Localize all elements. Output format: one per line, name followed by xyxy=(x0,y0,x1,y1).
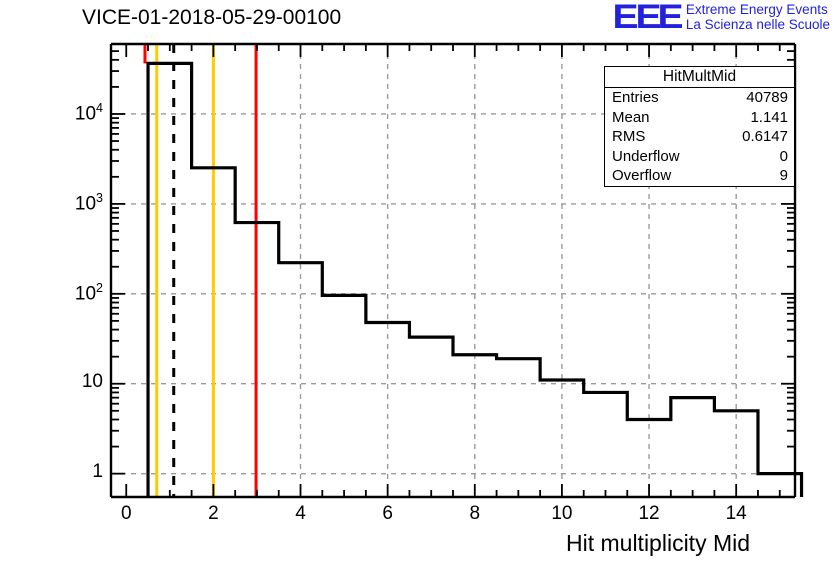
stats-row: Entries40789 xyxy=(605,88,794,108)
logo-line-2: La Scienza nelle Scuole xyxy=(686,17,830,32)
y-tick-label: 102 xyxy=(25,281,103,305)
y-tick-mantissa: 10 xyxy=(82,371,103,392)
stats-row: Underflow0 xyxy=(605,147,794,167)
stats-label: Mean xyxy=(612,108,650,128)
y-tick-mantissa: 10 xyxy=(75,103,96,124)
y-tick-exponent: 4 xyxy=(96,101,103,115)
page-title: VICE-01-2018-05-29-00100 xyxy=(82,6,341,30)
stats-value: 1.141 xyxy=(750,108,788,128)
y-tick-label: 104 xyxy=(25,101,103,125)
stats-label: Underflow xyxy=(612,147,680,167)
x-tick-label: 12 xyxy=(629,503,669,525)
stats-value: 9 xyxy=(780,166,788,186)
x-tick-label: 8 xyxy=(455,503,495,525)
stats-rows: Entries40789Mean1.141RMS0.6147Underflow0… xyxy=(605,88,794,186)
logo-caption: Extreme Energy Events La Scienza nelle S… xyxy=(686,2,830,32)
eee-letters-icon: E E E xyxy=(614,3,680,31)
y-tick-exponent: 2 xyxy=(96,281,103,295)
stats-value: 0.6147 xyxy=(742,127,788,147)
x-tick-label: 14 xyxy=(716,503,756,525)
x-axis-title: Hit multiplicity Mid xyxy=(566,530,750,557)
x-tick-label: 4 xyxy=(281,503,321,525)
eee-letter-1: E xyxy=(612,3,636,31)
stats-label: Entries xyxy=(612,88,659,108)
stats-row: RMS0.6147 xyxy=(605,127,794,147)
x-tick-label: 6 xyxy=(368,503,408,525)
y-tick-label: 10 xyxy=(25,371,103,393)
x-tick-label: 0 xyxy=(106,503,146,525)
logo-line-1: Extreme Energy Events xyxy=(686,2,830,17)
x-tick-label: 2 xyxy=(193,503,233,525)
eee-letter-2: E xyxy=(635,3,659,31)
y-tick-exponent: 3 xyxy=(96,191,103,205)
y-tick-label: 103 xyxy=(25,191,103,215)
stats-value: 0 xyxy=(780,147,788,167)
stats-label: Overflow xyxy=(612,166,671,186)
stats-value: 40789 xyxy=(746,88,788,108)
y-tick-mantissa: 10 xyxy=(75,283,96,304)
stats-row: Mean1.141 xyxy=(605,108,794,128)
eee-logo: E E E Extreme Energy Events La Scienza n… xyxy=(614,2,830,32)
y-tick-mantissa: 1 xyxy=(92,461,103,482)
stats-row: Overflow9 xyxy=(605,166,794,186)
x-tick-label: 10 xyxy=(542,503,582,525)
stats-box: HitMultMid Entries40789Mean1.141RMS0.614… xyxy=(604,66,795,187)
marker-lines xyxy=(145,44,256,497)
stats-title: HitMultMid xyxy=(605,67,794,88)
y-tick-mantissa: 10 xyxy=(75,193,96,214)
stats-label: RMS xyxy=(612,127,645,147)
eee-letter-3: E xyxy=(658,3,682,31)
y-tick-label: 1 xyxy=(25,461,103,483)
